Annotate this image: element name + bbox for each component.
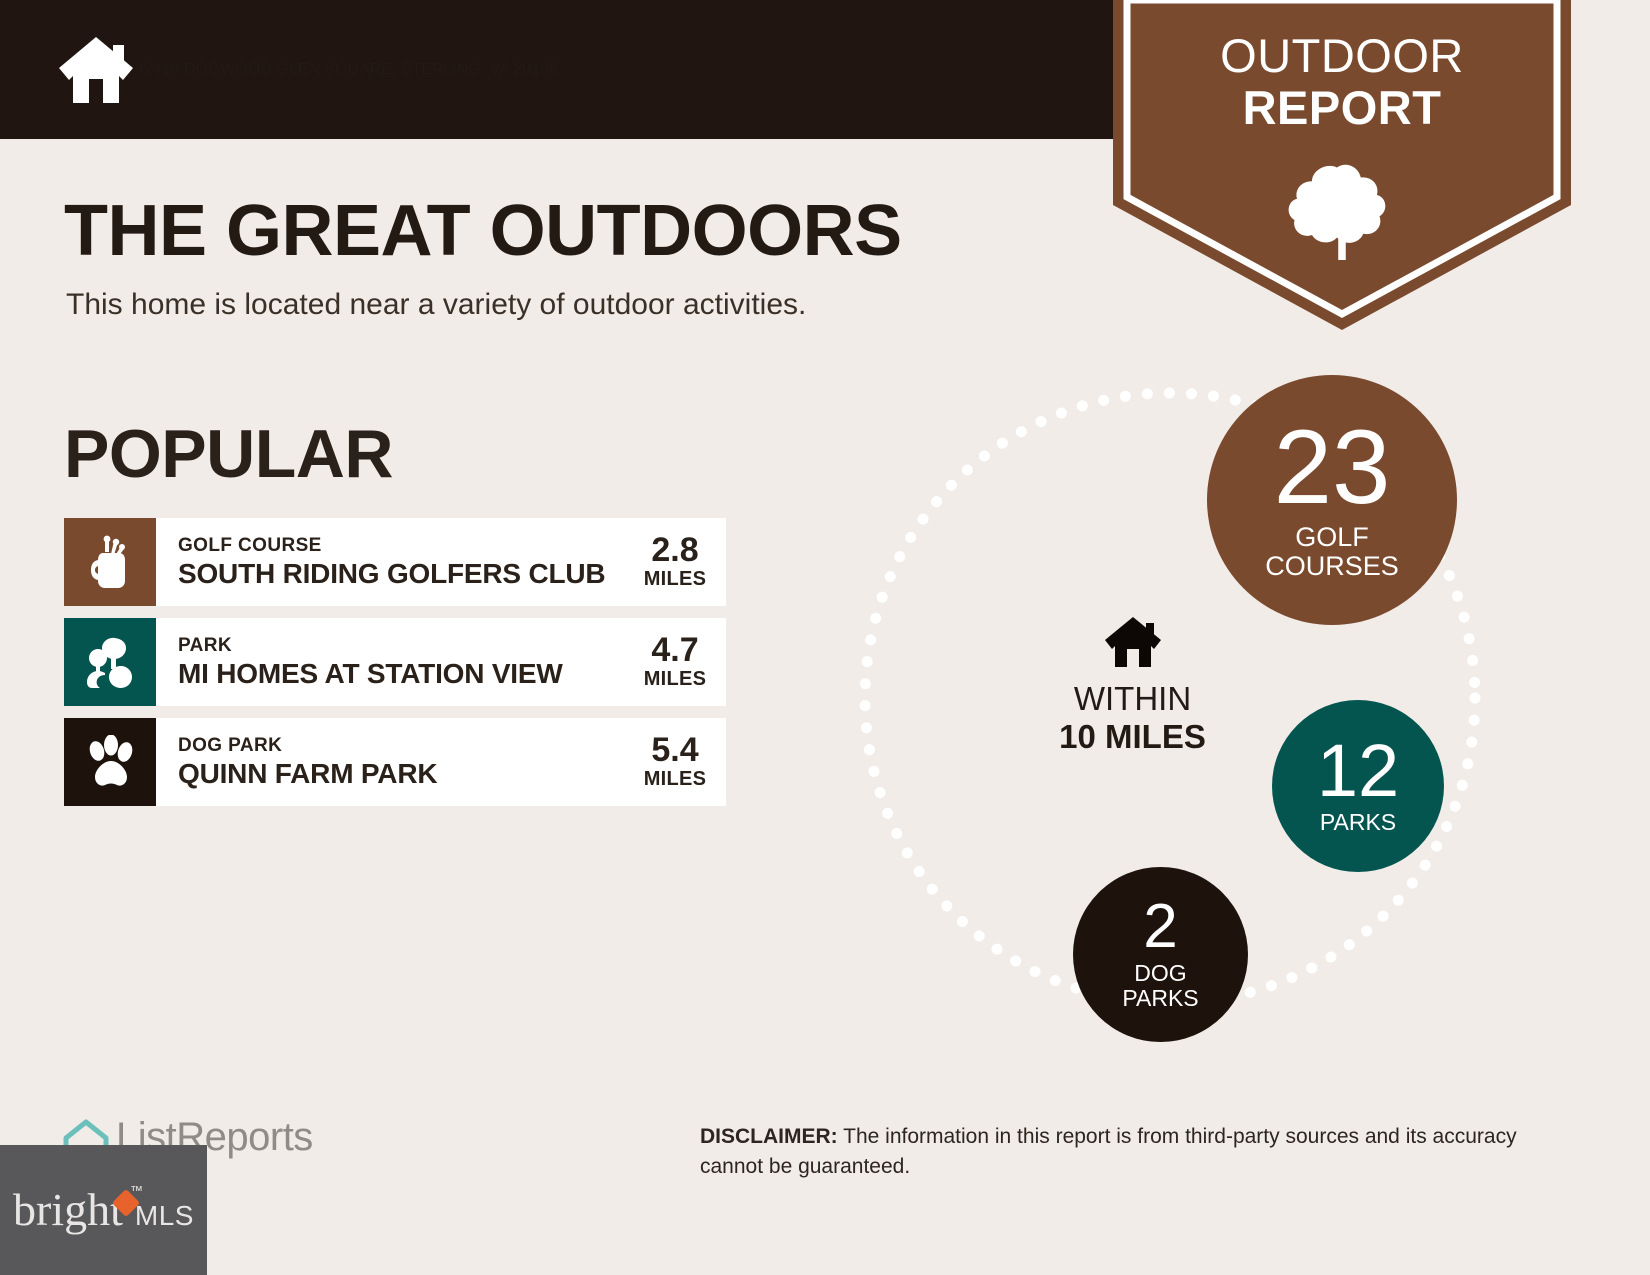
- item-category: PARK: [178, 634, 630, 657]
- item-text: PARK MI HOMES AT STATION VIEW: [156, 618, 630, 706]
- popular-list: GOLF COURSE SOUTH RIDING GOLFERS CLUB 2.…: [64, 518, 726, 818]
- golf-bag-icon: [86, 534, 134, 590]
- list-item[interactable]: GOLF COURSE SOUTH RIDING GOLFERS CLUB 2.…: [64, 518, 726, 606]
- item-icon-swatch: [64, 518, 156, 606]
- distance-value: 4.7: [651, 633, 698, 668]
- distance-value: 5.4: [651, 733, 698, 768]
- stat-parks: 12 PARKS: [1272, 700, 1444, 872]
- stat-value: 12: [1317, 738, 1399, 804]
- badge-title: OUTDOOR REPORT: [1113, 30, 1571, 134]
- within-line-2: 10 MILES: [1010, 718, 1255, 756]
- distance-unit: MILES: [644, 568, 707, 591]
- badge-line-1: OUTDOOR: [1113, 30, 1571, 82]
- within-radius-block: WITHIN 10 MILES: [1010, 615, 1255, 756]
- disclaimer: DISCLAIMER: The information in this repo…: [700, 1122, 1520, 1182]
- stat-label: PARKS: [1320, 810, 1396, 835]
- popular-heading: POPULAR: [64, 415, 393, 493]
- distance-value: 2.8: [651, 533, 698, 568]
- stat-golf-courses: 23 GOLF COURSES: [1207, 375, 1457, 625]
- item-name: MI HOMES AT STATION VIEW: [178, 657, 630, 690]
- brightmls-watermark: bright ™ MLS: [0, 1145, 207, 1275]
- property-address: 42416 DOGWOOD GLEN SQUARE, STERLING, VA …: [135, 61, 558, 79]
- outdoor-report-badge: OUTDOOR REPORT: [1113, 0, 1571, 330]
- item-name: QUINN FARM PARK: [178, 757, 630, 790]
- distance-unit: MILES: [644, 668, 707, 691]
- stat-dog-parks: 2 DOG PARKS: [1073, 867, 1248, 1042]
- brightmls-bright-word: bright: [13, 1187, 123, 1233]
- stat-label-line-2: COURSES: [1265, 552, 1399, 581]
- item-icon-swatch: [64, 718, 156, 806]
- stat-label-line-1: DOG: [1122, 961, 1198, 986]
- stat-label-line-1: PARKS: [1320, 810, 1396, 835]
- stat-value: 2: [1143, 899, 1177, 955]
- stat-label-line-1: GOLF: [1265, 523, 1399, 552]
- item-icon-swatch: [64, 618, 156, 706]
- list-item[interactable]: PARK MI HOMES AT STATION VIEW 4.7 MILES: [64, 618, 726, 706]
- item-category: DOG PARK: [178, 734, 630, 757]
- item-text: GOLF COURSE SOUTH RIDING GOLFERS CLUB: [156, 518, 630, 606]
- disclaimer-label: DISCLAIMER:: [700, 1125, 838, 1148]
- stat-label-line-2: PARKS: [1122, 986, 1198, 1011]
- item-distance: 5.4 MILES: [630, 718, 726, 806]
- item-text: DOG PARK QUINN FARM PARK: [156, 718, 630, 806]
- paw-print-icon: [84, 735, 136, 789]
- page-subtitle: This home is located near a variety of o…: [66, 288, 806, 322]
- item-distance: 4.7 MILES: [630, 618, 726, 706]
- distance-unit: MILES: [644, 768, 707, 791]
- badge-line-2: REPORT: [1113, 82, 1571, 134]
- stat-label: GOLF COURSES: [1265, 523, 1399, 581]
- page-title: THE GREAT OUTDOORS: [64, 190, 902, 272]
- trademark-symbol: ™: [130, 1183, 143, 1198]
- within-line-1: WITHIN: [1010, 680, 1255, 718]
- item-distance: 2.8 MILES: [630, 518, 726, 606]
- stat-label: DOG PARKS: [1122, 961, 1198, 1011]
- item-category: GOLF COURSE: [178, 534, 630, 557]
- item-name: SOUTH RIDING GOLFERS CLUB: [178, 557, 630, 590]
- park-tree-icon: [84, 635, 136, 689]
- home-icon: [1103, 615, 1163, 669]
- home-icon: [57, 35, 135, 105]
- brightmls-mls-word: MLS: [135, 1199, 194, 1233]
- list-item[interactable]: DOG PARK QUINN FARM PARK 5.4 MILES: [64, 718, 726, 806]
- stat-value: 23: [1274, 420, 1391, 515]
